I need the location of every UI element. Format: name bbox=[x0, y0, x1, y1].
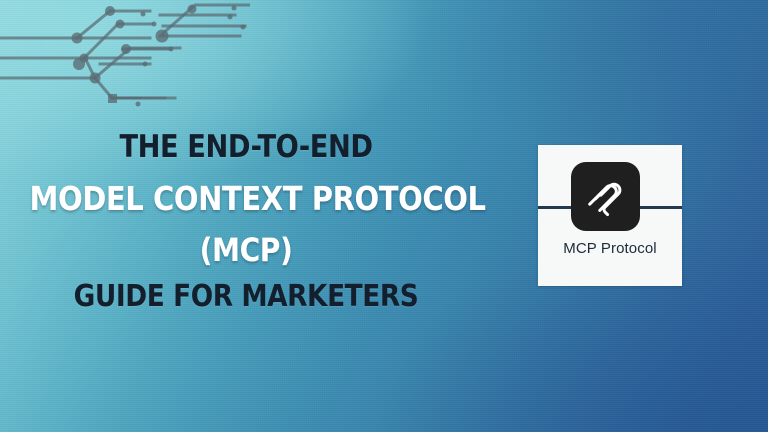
headline-line-3: (MCP) bbox=[30, 234, 463, 266]
mcp-protocol-card: MCP Protocol bbox=[538, 145, 682, 286]
mcp-card-label: MCP Protocol bbox=[538, 240, 682, 257]
headline-line-4: GUIDE FOR MARKETERS bbox=[30, 282, 463, 312]
hero-banner: THE END-TO-END MODEL CONTEXT PROTOCOL (M… bbox=[0, 0, 768, 432]
mcp-squiggle-logo-icon bbox=[571, 162, 640, 231]
headline-line-1: THE END-TO-END bbox=[30, 132, 463, 163]
circuit-trace-decoration bbox=[0, 0, 250, 125]
headline-block: THE END-TO-END MODEL CONTEXT PROTOCOL (M… bbox=[0, 132, 492, 312]
headline-line-2: MODEL CONTEXT PROTOCOL bbox=[30, 182, 463, 215]
